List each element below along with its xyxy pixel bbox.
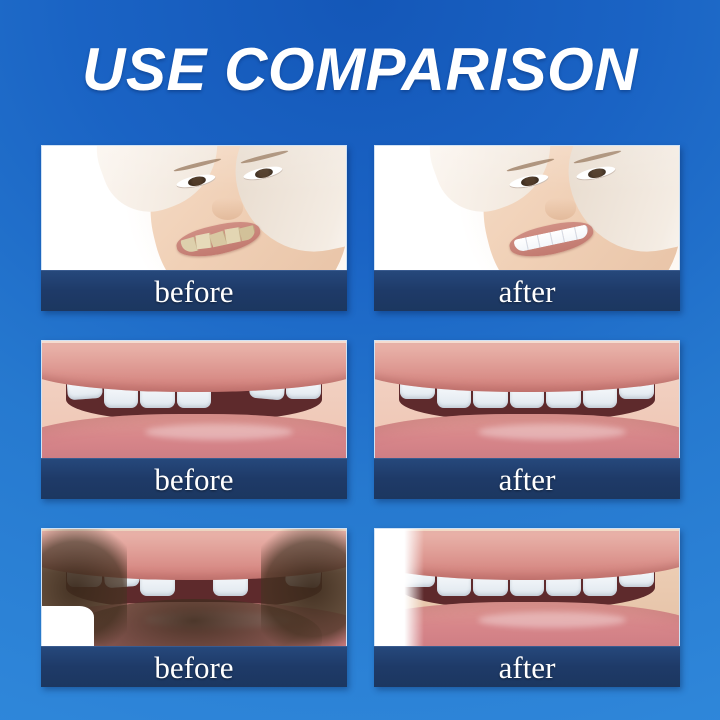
panel-after-row-2: after [374, 340, 680, 499]
caption-label: after [499, 464, 556, 495]
lower-lip [374, 414, 680, 458]
caption-bar-after-row-1: after [374, 270, 680, 311]
caption-label: before [154, 464, 233, 495]
photo-before-row-1 [41, 145, 347, 270]
page-title-wrapper: USE COMPARISON [0, 38, 720, 102]
scene-woman-before [42, 146, 346, 270]
scene-bearded-man-before [42, 529, 346, 646]
caption-bar-before-row-3: before [41, 646, 347, 687]
scene-smile-gap-before [42, 341, 346, 458]
photo-after-row-1 [374, 145, 680, 270]
caption-label: before [154, 276, 233, 307]
caption-label: before [154, 652, 233, 683]
scene-woman-after [375, 146, 679, 270]
comparison-grid: before [41, 145, 680, 687]
comparison-row: before [41, 145, 680, 311]
photo-corner-highlight [375, 529, 424, 646]
upper-lip [41, 343, 347, 392]
panel-before-row-2: before [41, 340, 347, 499]
photo-after-row-3 [374, 528, 680, 646]
tooth [574, 225, 589, 240]
photo-before-row-3 [41, 528, 347, 646]
comparison-row: before [41, 528, 680, 687]
caption-bar-before-row-1: before [41, 270, 347, 311]
panel-after-row-1: after [374, 145, 680, 311]
panel-after-row-3: after [374, 528, 680, 687]
scene-man-restored-after [375, 529, 679, 646]
photo-before-row-2 [41, 340, 347, 458]
upper-lip [374, 343, 680, 392]
caption-bar-after-row-2: after [374, 458, 680, 499]
photo-after-row-2 [374, 340, 680, 458]
caption-label: after [499, 276, 556, 307]
page-title: USE COMPARISON [82, 38, 638, 102]
scene-smile-complete-after [375, 341, 679, 458]
panel-before-row-1: before [41, 145, 347, 311]
lower-lip [41, 414, 347, 458]
tooth [239, 225, 257, 243]
comparison-row: before [41, 340, 680, 499]
panel-before-row-3: before [41, 528, 347, 687]
caption-bar-after-row-3: after [374, 646, 680, 687]
caption-label: after [499, 652, 556, 683]
caption-bar-before-row-2: before [41, 458, 347, 499]
photo-corner-highlight [42, 606, 94, 646]
